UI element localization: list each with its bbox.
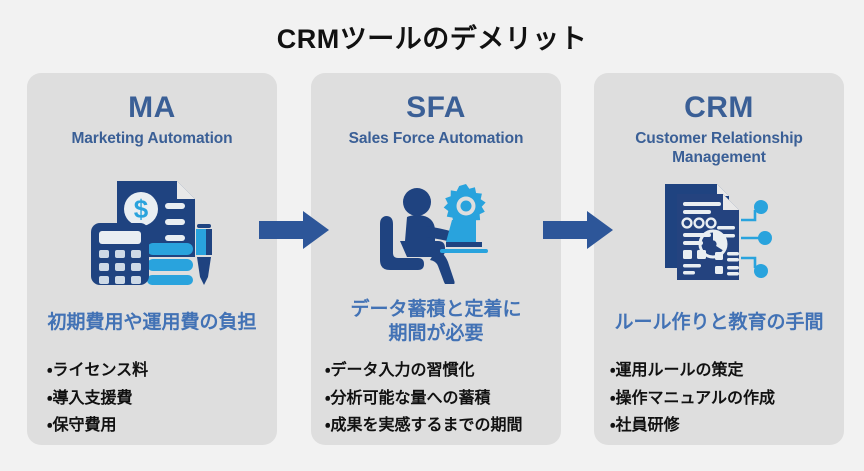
svg-text:$: $ xyxy=(134,194,149,224)
card-crm-bullets: ・運用ルールの策定 ・操作マニュアルの作成 ・社員研修 xyxy=(594,357,844,440)
list-item: ・分析可能な量への蓄積 xyxy=(325,385,561,413)
card-ma: MA Marketing Automation $ xyxy=(27,73,277,445)
list-item: ・成果を実感するまでの期間 xyxy=(325,412,561,440)
card-sfa-abbreviation: SFA xyxy=(311,91,561,124)
person-at-laptop-gear-icon xyxy=(311,177,561,287)
list-item: ・操作マニュアルの作成 xyxy=(610,385,844,413)
card-sfa-full-name: Sales Force Automation xyxy=(311,129,561,148)
list-item: ・保守費用 xyxy=(47,412,277,440)
card-crm-heading: ルール作りと教育の手間 xyxy=(600,311,838,335)
invoice-calculator-pen-icon: $ xyxy=(27,177,277,287)
list-item: ・データ入力の習慣化 xyxy=(325,357,561,385)
card-sfa-heading: データ蓄積と定着に 期間が必要 xyxy=(317,298,555,346)
page-title: CRMツールのデメリット xyxy=(0,23,864,55)
report-documents-network-icon xyxy=(594,177,844,287)
cards-container: MA Marketing Automation $ xyxy=(27,73,844,445)
card-crm: CRM Customer Relationship Management xyxy=(594,73,844,445)
card-crm-abbreviation: CRM xyxy=(594,91,844,124)
list-item: ・導入支援費 xyxy=(47,385,277,413)
card-ma-heading: 初期費用や運用費の負担 xyxy=(33,311,271,335)
card-ma-abbreviation: MA xyxy=(27,91,277,124)
list-item: ・ライセンス料 xyxy=(47,357,277,385)
card-ma-bullets: ・ライセンス料 ・導入支援費 ・保守費用 xyxy=(27,357,277,440)
card-ma-full-name: Marketing Automation xyxy=(27,129,277,148)
arrow-ma-to-sfa-icon xyxy=(259,211,329,249)
card-crm-full-name: Customer Relationship Management xyxy=(594,129,844,168)
card-sfa-bullets: ・データ入力の習慣化 ・分析可能な量への蓄積 ・成果を実感するまでの期間 xyxy=(311,357,561,440)
list-item: ・社員研修 xyxy=(610,412,844,440)
arrow-sfa-to-crm-icon xyxy=(543,211,613,249)
list-item: ・運用ルールの策定 xyxy=(610,357,844,385)
card-sfa: SFA Sales Force Automation xyxy=(311,73,561,445)
infographic-root: CRMツールのデメリット MA Marketing Automation $ xyxy=(0,0,864,471)
